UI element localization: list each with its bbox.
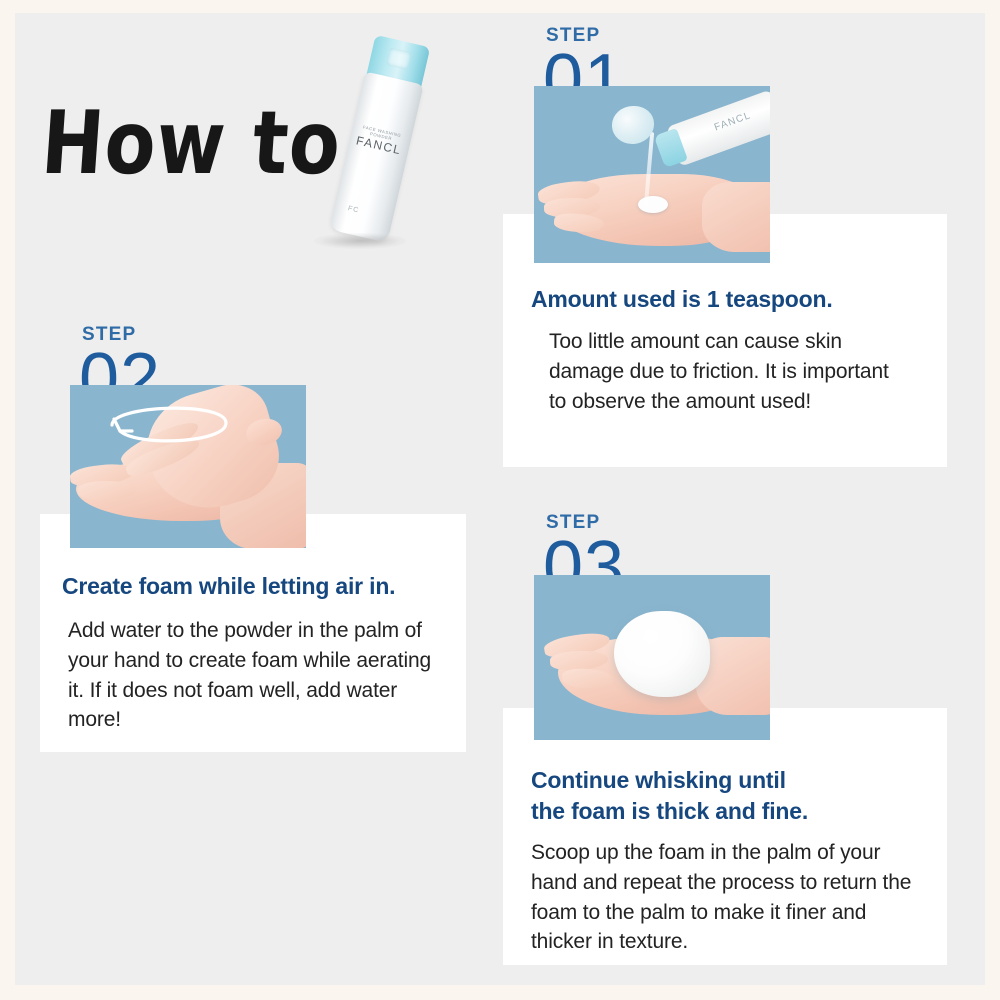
product-bottle-illustration: FACE WASHING POWDER FANCL FC: [300, 28, 430, 263]
step-heading-02: Create foam while letting air in.: [62, 571, 395, 602]
powder-dollop: [638, 196, 668, 213]
bottle-bottom-mark: FC: [347, 205, 360, 214]
step-photo-03: [534, 575, 770, 740]
step-body-02: Add water to the powder in the palm of y…: [68, 616, 438, 735]
foam-ball: [614, 611, 710, 697]
step-heading-03-line1: Continue whisking until: [531, 765, 808, 796]
step-body-03: Scoop up the foam in the palm of your ha…: [531, 838, 921, 957]
bottle-graphic: FACE WASHING POWDER FANCL FC: [329, 34, 432, 242]
step-heading-03-line2: the foam is thick and fine.: [531, 796, 808, 827]
bottle-shadow: [314, 233, 406, 249]
tube-brand-label: FANCL: [713, 110, 753, 133]
step-photo-01: FANCL: [534, 86, 770, 263]
step-heading-01: Amount used is 1 teaspoon.: [531, 284, 833, 315]
water-blob: [612, 106, 654, 144]
wrist-shape: [702, 182, 770, 252]
tube-cap-icon: [654, 128, 688, 168]
circular-arrow-icon: [94, 393, 244, 453]
step-photo-02: [70, 385, 306, 548]
bottle-body: FACE WASHING POWDER FANCL FC: [329, 71, 424, 242]
step-heading-03: Continue whisking until the foam is thic…: [531, 765, 808, 827]
step-body-01: Too little amount can cause skin damage …: [549, 327, 909, 416]
page-title: How to: [39, 100, 344, 187]
product-tube-icon: FANCL: [666, 89, 770, 167]
poster-canvas: How to FACE WASHING POWDER FANCL FC STEP…: [0, 0, 1000, 1000]
